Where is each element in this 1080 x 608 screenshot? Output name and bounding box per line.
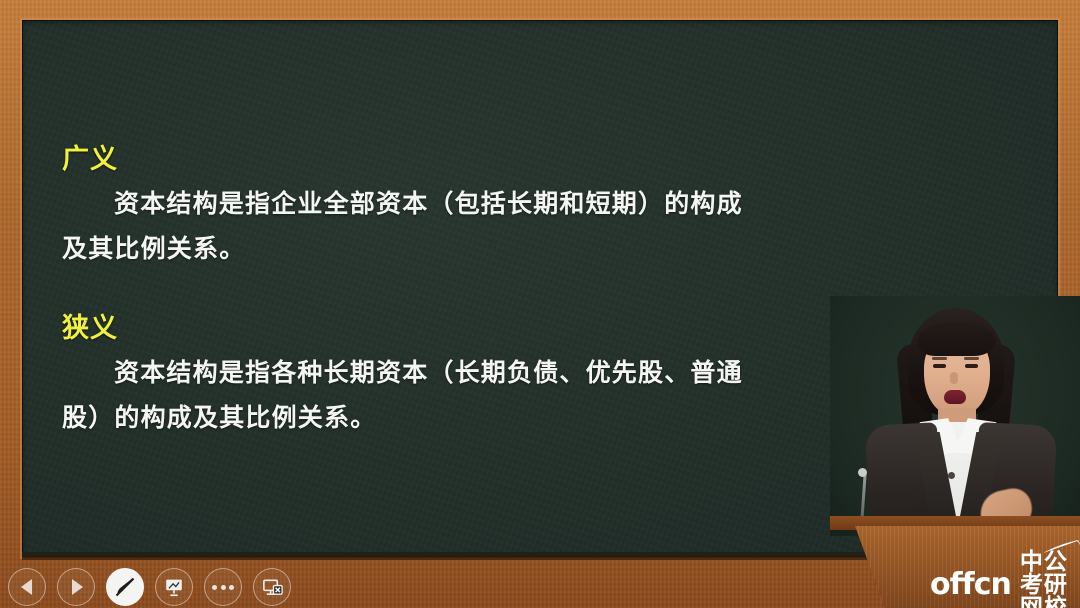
section-heading-narrow: 狭义: [62, 309, 762, 347]
presenter-nose: [950, 372, 958, 384]
lecture-podium: offcn 中公考研网校: [830, 516, 1080, 608]
end-slideshow-icon: [261, 576, 284, 599]
section-body-narrow: 资本结构是指各种长期资本（长期负债、优先股、普通股）的构成及其比例关系。: [62, 351, 762, 441]
brand-logo: offcn 中公考研网校: [930, 550, 1080, 608]
presenter-fringe: [918, 322, 996, 356]
presenter-eye-right: [965, 364, 978, 368]
brand-logo-text: 中公考研网校: [1020, 550, 1080, 608]
presenter-eye-left: [933, 364, 946, 368]
section-body-broad: 资本结构是指企业全部资本（包括长期和短期）的构成及其比例关系。: [62, 182, 762, 272]
microphone-icon: [858, 468, 867, 477]
logo-swoosh-icon: [1042, 539, 1080, 555]
presenter-mouth: [944, 390, 966, 404]
ellipsis-icon: [212, 585, 234, 590]
presenter-lapel-mic-icon: [948, 472, 955, 479]
end-show-button[interactable]: [253, 568, 291, 606]
slide-view-button[interactable]: [155, 568, 193, 606]
slideshow-toolbar: [8, 568, 291, 606]
section-heading-broad: 广义: [62, 140, 762, 178]
brand-logo-mark: offcn: [930, 570, 1011, 600]
triangle-right-icon: [72, 579, 83, 595]
presenter-eyebrow-right: [964, 357, 979, 360]
presentation-stage: 广义 资本结构是指企业全部资本（包括长期和短期）的构成及其比例关系。 狭义 资本…: [0, 0, 1080, 608]
next-slide-button[interactable]: [57, 568, 95, 606]
triangle-left-icon: [21, 579, 32, 595]
previous-slide-button[interactable]: [8, 568, 46, 606]
pen-icon: [113, 575, 137, 599]
pen-annotation-button[interactable]: [106, 568, 144, 606]
presentation-screen-icon: [163, 576, 185, 598]
presenter-video-overlay: offcn 中公考研网校: [830, 296, 1080, 608]
more-options-button[interactable]: [204, 568, 242, 606]
slide-content: 广义 资本结构是指企业全部资本（包括长期和短期）的构成及其比例关系。 狭义 资本…: [62, 140, 762, 441]
presenter-eyebrow-left: [932, 357, 947, 360]
